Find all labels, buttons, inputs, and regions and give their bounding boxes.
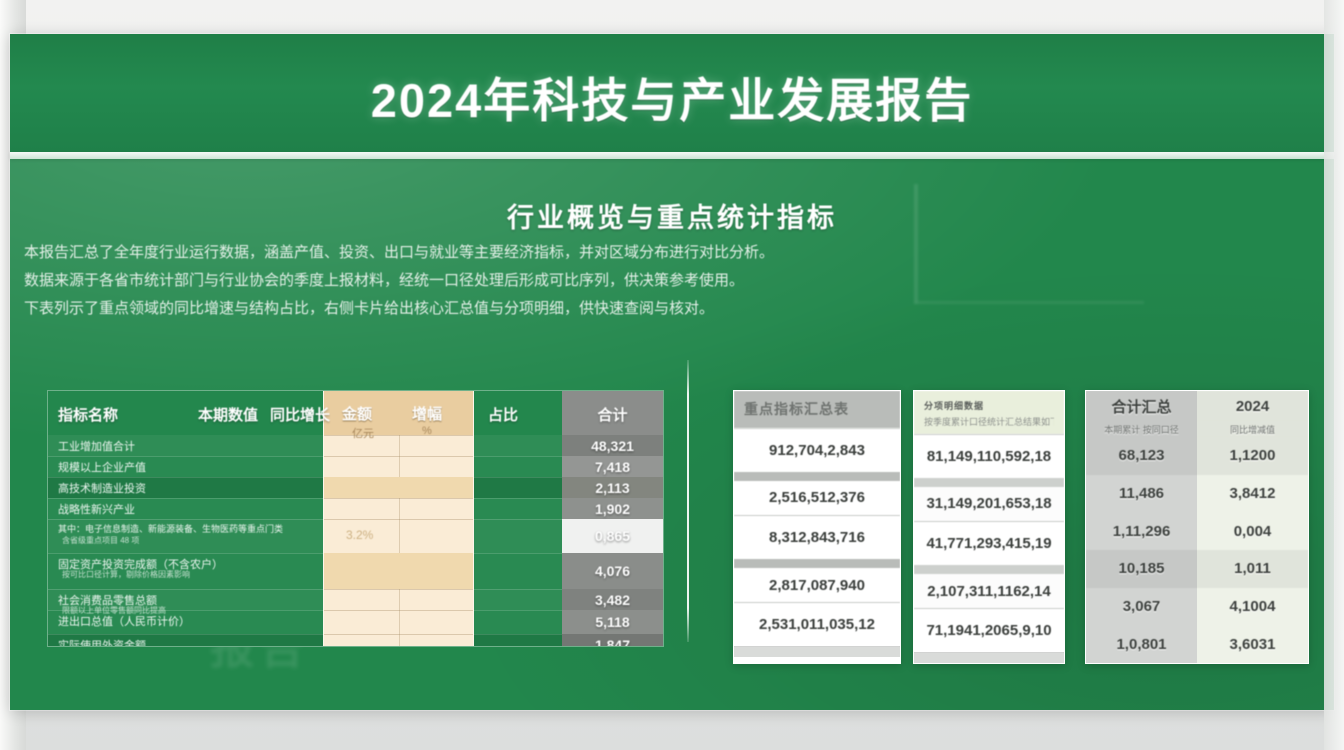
card-header: 重点指标汇总表 <box>734 391 900 428</box>
table-row-label: 高技术制造业投资 <box>58 480 318 496</box>
highlight-row-separator <box>324 634 473 635</box>
card3-cell: 2024 <box>1197 391 1308 421</box>
card-row: 41,771,293,415,19 <box>914 521 1064 565</box>
table-body: 金额亿元增幅%3.2%48,3217,4182,1131,9020,8654,0… <box>48 391 663 646</box>
table-header-cell: 同比增长 <box>270 404 330 425</box>
table-header-cell: 占比 <box>488 404 518 425</box>
card3-cell: 10,185 <box>1086 550 1197 588</box>
card-subtitle: 按季度累计口径统计汇总结果如下 <box>924 415 1054 428</box>
card-footer <box>914 652 1064 663</box>
highlight-header-label: 金额 <box>342 403 372 424</box>
summary-card-2[interactable]: 分项明细数据 按季度累计口径统计汇总结果如下 81,149,110,592,18… <box>913 390 1065 664</box>
paragraph-line: 数据来源于各省市统计部门与行业协会的季度上报材料，经统一口径处理后形成可比序列，… <box>24 267 1324 295</box>
total-value: 4,076 <box>562 563 663 579</box>
total-column[interactable]: 48,3217,4182,1131,9020,8654,0763,4825,11… <box>562 391 663 646</box>
total-value: 1,847 <box>562 637 663 648</box>
card-row: 2,531,011,035,12 <box>734 602 900 646</box>
card3-cell: 3,067 <box>1086 588 1197 626</box>
highlight-row-separator <box>324 498 473 499</box>
total-value: 48,321 <box>562 438 663 454</box>
card3-cell: 11,486 <box>1086 475 1197 513</box>
card3-cell: 68,123 <box>1086 437 1197 475</box>
highlight-header-unit: 亿元 <box>352 425 374 441</box>
table-row-label: 实际使用外资金额 <box>58 637 318 647</box>
presentation-board: 2024年科技与产业发展报告 行业概览与重点统计指标 报告 本报告汇总了全年度行… <box>10 34 1334 710</box>
table-row-label: 工业增加值合计 <box>58 438 318 454</box>
total-value: 3,482 <box>562 592 663 608</box>
paragraph-line: 本报告汇总了全年度行业运行数据，涵盖产值、投资、出口与就业等主要经济指标，并对区… <box>24 239 1324 267</box>
title-banner: 2024年科技与产业发展报告 <box>10 34 1334 152</box>
table-row-label: 战略性新兴产业 <box>58 501 318 517</box>
summary-card-1[interactable]: 重点指标汇总表 912,704,2,8432,516,512,3768,312,… <box>733 390 901 664</box>
card-title: 重点指标汇总表 <box>744 399 890 419</box>
card-row: 81,149,110,592,18 <box>914 434 1064 478</box>
vertical-divider <box>687 360 689 642</box>
card3-cell: 1,1200 <box>1197 437 1308 475</box>
card-row-list: 912,704,2,8432,516,512,3768,312,843,7162… <box>734 428 900 657</box>
card-row: 2,107,311,1162,14 <box>914 565 1064 609</box>
highlight-row-band <box>324 553 473 589</box>
card3-cell: 3,8412 <box>1197 475 1308 513</box>
card3-cell: 1,0,801 <box>1086 625 1197 663</box>
body-paragraph: 本报告汇总了全年度行业运行数据，涵盖产值、投资、出口与就业等主要经济指标，并对区… <box>24 239 1324 323</box>
data-table[interactable]: 金额亿元增幅%3.2%48,3217,4182,1131,9020,8654,0… <box>47 390 664 647</box>
card3-cell: 1,011 <box>1197 550 1308 588</box>
card3-left-column: 合计汇总本期累计 按同口径68,12311,4861,11,29610,1853… <box>1086 391 1197 663</box>
card3-cell: 1,11,296 <box>1086 512 1197 550</box>
card-row: 912,704,2,843 <box>734 428 900 472</box>
total-value: 0,865 <box>562 528 663 544</box>
card3-cell: 同比增减值 <box>1197 421 1308 437</box>
card3-cell: 4,1004 <box>1197 588 1308 626</box>
subtitle: 行业概览与重点统计指标 <box>10 196 1334 235</box>
total-value: 1,902 <box>562 501 663 517</box>
highlight-row-separator <box>324 519 473 520</box>
summary-card-3[interactable]: 合计汇总本期累计 按同口径68,12311,4861,11,29610,1853… <box>1085 390 1309 664</box>
card-header: 分项明细数据 按季度累计口径统计汇总结果如下 <box>914 391 1064 434</box>
card-row: 31,149,201,653,18 <box>914 478 1064 522</box>
card3-cell: 本期累计 按同口径 <box>1086 421 1197 437</box>
table-row-detail: 含省级重点项目 48 项 <box>62 535 312 546</box>
table-header-cell: 合计 <box>562 404 663 425</box>
table-row-label: 规模以上企业产值 <box>58 459 318 475</box>
title-divider <box>10 152 1334 159</box>
card3-cell: 3,6031 <box>1197 625 1308 663</box>
total-value: 2,113 <box>562 480 663 496</box>
card-footer <box>734 646 900 657</box>
highlight-row-separator <box>324 610 473 611</box>
card3-cell: 0,004 <box>1197 512 1308 550</box>
card-row: 71,1941,2065,9,10 <box>914 608 1064 652</box>
table-header-cell: 本期数值 <box>198 404 258 425</box>
highlight-row-separator <box>324 589 473 590</box>
highlight-column-divider <box>399 435 400 646</box>
total-value: 5,118 <box>562 614 663 630</box>
card-row-list: 81,149,110,592,1831,149,201,653,1841,771… <box>914 434 1064 663</box>
highlighted-column-block[interactable]: 金额亿元增幅%3.2% <box>323 391 474 646</box>
table-row-label: 其中：电子信息制造、新能源装备、生物医药等重点门类 <box>58 522 318 535</box>
highlight-header-label: 增幅 <box>412 403 442 424</box>
table-header-cell: 指标名称 <box>58 404 118 425</box>
card3-right-column: 2024同比增减值1,12003,84120,0041,0114,10043,6… <box>1197 391 1308 663</box>
page-title: 2024年科技与产业发展报告 <box>371 62 974 131</box>
table-row-detail: 按可比口径计算，剔除价格因素影响 <box>62 569 312 580</box>
highlight-row-separator <box>324 456 473 457</box>
highlight-row-band <box>324 477 473 498</box>
highlight-note: 3.2% <box>346 528 373 542</box>
card-row: 2,516,512,376 <box>734 472 900 516</box>
card3-cell: 合计汇总 <box>1086 391 1197 421</box>
photo-background: 2024年科技与产业发展报告 行业概览与重点统计指标 报告 本报告汇总了全年度行… <box>0 0 1344 750</box>
paragraph-line: 下表列示了重点领域的同比增速与结构占比，右侧卡片给出核心汇总值与分项明细，供快速… <box>24 295 1324 323</box>
card-row: 8,312,843,716 <box>734 515 900 559</box>
total-value: 7,418 <box>562 459 663 475</box>
table-row-label: 进出口总值（人民币计价） <box>58 613 318 629</box>
content-area: 金额亿元增幅%3.2%48,3217,4182,1131,9020,8654,0… <box>10 352 1334 682</box>
highlight-row-separator <box>324 435 473 436</box>
card-row: 2,817,087,940 <box>734 559 900 603</box>
card-title: 分项明细数据 <box>924 399 1054 412</box>
